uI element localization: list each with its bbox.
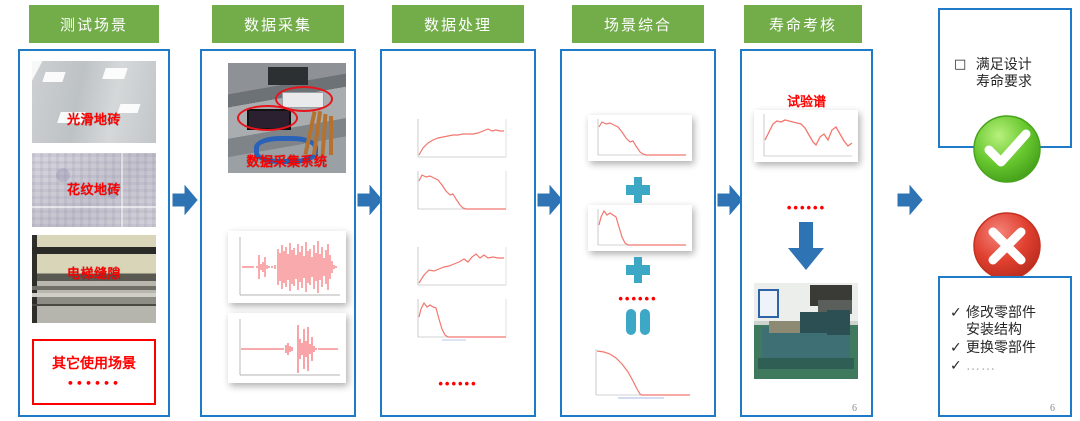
processing-chart-1 (408, 115, 512, 163)
column-header-scene-synthesis: 场景综合 (572, 5, 704, 43)
fail-item-2-line-1: 更换零部件 (966, 340, 1036, 357)
synthesis-ellipsis: •••••• (560, 292, 716, 305)
photo-caption: 电梯缝隙 (32, 263, 156, 282)
processing-ellipsis: •••••• (380, 377, 536, 390)
plus-operator-icon-1 (622, 175, 654, 205)
column-scene-synthesis: 场景综合 (560, 5, 716, 417)
pass-line-1: 满足设计 (976, 57, 1032, 73)
photo-daq-system: 数据采集系统 (228, 63, 346, 173)
fail-item-1-line-1: 修改零部件 (966, 305, 1036, 321)
plus-operator-icon-2 (622, 255, 654, 285)
fail-item-1-line-2: 安装结构 (966, 322, 1036, 339)
fail-result-list: ✓ 修改零部件 安装结构 ✓ 更换零部件 ✓ …… (950, 305, 1070, 375)
test-spectrum-chart (754, 110, 858, 162)
pass-bullet-icon: □ (954, 57, 966, 72)
down-arrow-icon (786, 220, 826, 272)
fail-bullet-icon-2: ✓ (950, 340, 966, 357)
photo-caption: 数据采集系统 (228, 151, 346, 170)
column-header-life-assessment: 寿命考核 (744, 5, 862, 43)
column-test-scene: 测试场景 光滑地砖 花纹地砖 电梯缝隙 其它使用场景 •••••• (18, 5, 170, 417)
connector-arrow-1 (172, 185, 198, 215)
highlight-ellipse-2 (237, 105, 298, 131)
other-scenarios-dots: •••••• (34, 377, 154, 390)
column-life-assessment: 寿命考核 试验谱 •••••• (740, 5, 873, 417)
other-scenarios-label: 其它使用场景 (34, 353, 154, 373)
photo-smooth-tile: 光滑地砖 (32, 61, 156, 143)
fail-item-3-line-1: …… (966, 358, 996, 375)
fail-bullet-icon-3: ✓ (950, 358, 966, 375)
synthesis-chart-2 (588, 205, 692, 251)
equals-operator-icon (624, 307, 652, 337)
column-data-acquisition: 数据采集 数据采集系统 (200, 5, 356, 417)
synthesis-result-chart (586, 345, 696, 403)
photo-caption: 光滑地砖 (32, 109, 156, 128)
test-spectrum-label: 试验谱 (740, 91, 873, 110)
processing-chart-3 (408, 243, 512, 291)
photo-vibration-test-rig (754, 283, 858, 379)
fail-bullet-icon-1: ✓ (950, 305, 966, 339)
column-conclusion: □ 满足设计 寿命要求 (938, 5, 1072, 417)
life-assessment-ellipsis: •••••• (740, 201, 873, 214)
pass-result-text: □ 满足设计 寿命要求 (954, 57, 1070, 91)
column-header-data-acquisition: 数据采集 (212, 5, 344, 43)
photo-caption: 花纹地砖 (32, 179, 156, 198)
red-cross-circle-icon (971, 210, 1043, 282)
photo-elevator-gap: 电梯缝隙 (32, 235, 156, 323)
processing-chart-4 (408, 295, 512, 343)
process-flow-diagram: 测试场景 光滑地砖 花纹地砖 电梯缝隙 其它使用场景 •••••• 数据采集 (0, 0, 1080, 421)
pass-line-2: 寿命要求 (976, 74, 1070, 91)
photo-patterned-tile: 花纹地砖 (32, 153, 156, 227)
processing-chart-2 (408, 167, 512, 215)
column-header-test-scene: 测试场景 (29, 5, 159, 43)
page-number: 6 (1050, 403, 1055, 414)
other-scenarios-box: 其它使用场景 •••••• (32, 339, 156, 405)
waveform-chart-2 (228, 313, 346, 383)
column-body-data-processing (380, 49, 536, 417)
connector-arrow-5 (897, 185, 923, 215)
waveform-chart-1 (228, 231, 346, 303)
column-header-data-processing: 数据处理 (392, 5, 524, 43)
green-check-circle-icon (971, 113, 1043, 185)
synthesis-chart-1 (588, 115, 692, 161)
page-number: 6 (852, 403, 857, 414)
column-data-processing: 数据处理 (380, 5, 536, 417)
